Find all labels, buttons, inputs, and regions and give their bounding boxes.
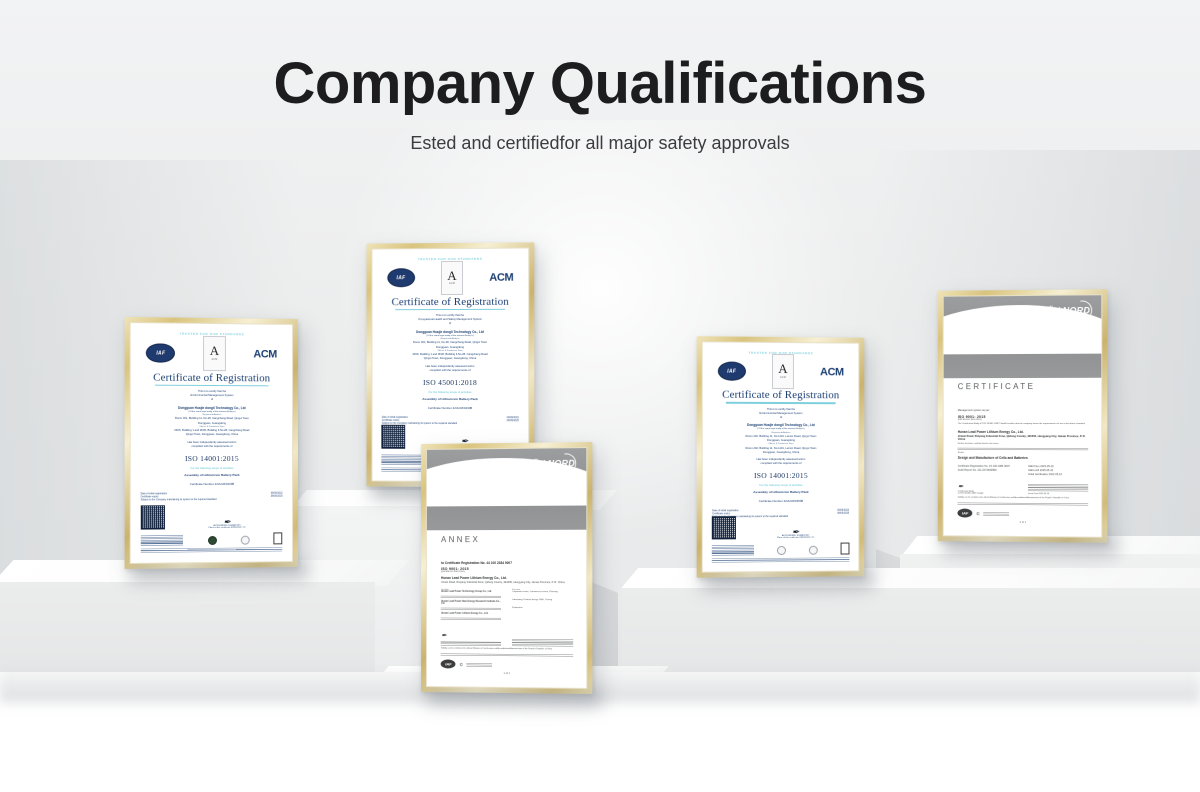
accreditation-seal-icon-1 xyxy=(777,546,786,555)
cert-scope-label: For the following scope of activities xyxy=(712,483,849,487)
certificate-frame-tuv-annex[interactable]: TÜV NORD ANNEX to Certificate Registrati… xyxy=(421,442,592,694)
col-right-1: Corporate centre, Commercial centre, Pla… xyxy=(512,591,573,593)
iaf-logo-icon: IAF xyxy=(718,362,746,381)
accreditation-seal-row xyxy=(140,533,282,546)
cert-standard: ISO 14001:2015 xyxy=(140,454,282,463)
col-left-label: Location xyxy=(441,589,501,591)
accreditation-seal-icon-1 xyxy=(208,536,217,545)
cert-number: Certificate Number 22/ACM/0430B xyxy=(382,406,519,410)
col-right-3: Production xyxy=(512,607,573,609)
cert-intro-3: of xyxy=(140,398,282,403)
cert-address-4: Qingxi Town, Dongguan, Guangdong, China xyxy=(382,357,519,361)
cert-title-rule xyxy=(726,402,836,404)
cert-meta-left-2: Audit Report No. 211-2372692890 xyxy=(958,469,1018,474)
cert-address-label-2: Offices & Production Sites xyxy=(712,443,849,447)
legal-microtext xyxy=(382,454,423,464)
acm-mark-icon: A ACM xyxy=(441,260,462,295)
cert-title-rule xyxy=(395,309,505,311)
cert-address: Jinwei Road, Ruiyang Industrial Zone, Qi… xyxy=(441,581,573,586)
signature-label-2: Place of this certificate 09/06/2022, V1 xyxy=(171,527,283,530)
cert-title: Certificate of Registration xyxy=(382,296,519,309)
col-right-label: Function xyxy=(512,589,573,591)
qr-code-icon xyxy=(712,516,735,540)
cert-address-label: Registered Address xyxy=(712,431,849,435)
accreditation-seal-row xyxy=(712,542,849,555)
cert-number: Certificate Number 22/ACM/0429B xyxy=(140,482,282,487)
acm-wordmark: ACM xyxy=(820,366,844,378)
legal-microtext xyxy=(140,536,183,546)
cert-annex-note: Further locations could be listed in the… xyxy=(958,442,1089,444)
certificate-mat: TRUSTED FOR OUR STANDARDS IAF A ACM ACM … xyxy=(702,341,860,572)
cert-scope: Assembly of Lithium Ion Battery Pack xyxy=(712,490,849,494)
cert-assessed-2: compliant with the requirements of xyxy=(140,445,282,449)
tuv-header-band: TÜV NORD xyxy=(944,295,1102,378)
iaf-logo-icon: IAF xyxy=(387,268,415,287)
acm-wordmark: ACM xyxy=(489,272,513,284)
cert-assessed-2: compliant with the requirements of xyxy=(382,369,519,373)
tuv-swoosh-shape xyxy=(944,304,1102,355)
cert-meta-left-3: Subject to the Company maintaining its s… xyxy=(140,498,216,501)
certificate-mat: TÜV NORD ANNEX to Certificate Registrati… xyxy=(426,447,587,689)
cert-scope: Assembly of Lithium Ion Battery Pack xyxy=(382,397,519,401)
accreditation-seal-icon-2 xyxy=(241,536,250,545)
certificate-frame-tuv-certificate[interactable]: TÜV NORD CERTIFICATE Management system a… xyxy=(938,289,1108,543)
cert-heading: CERTIFICATE xyxy=(958,382,1036,391)
cert-meta: Date of initial registration Certificate… xyxy=(140,492,282,502)
qualifications-hero-scene: Company Qualifications Ested and certifi… xyxy=(0,0,1200,792)
cert-address: Jinwei Road, Ruiyang Industrial Zone, Qi… xyxy=(958,434,1089,440)
certificate-mat: TÜV NORD CERTIFICATE Management system a… xyxy=(943,294,1103,538)
cert-intro-3: of xyxy=(382,322,519,327)
cert-meta-right-3: Initial certification 2022-05-16 xyxy=(1028,473,1089,478)
cert-title: Certificate of Registration xyxy=(140,371,282,384)
cert-address-4: Dongguan, Guangdong, China xyxy=(712,451,849,455)
cert-logo-row: IAF A ACM ACM xyxy=(712,357,849,386)
col-right-2: Laboratory, Product design, R&D, Testing xyxy=(512,599,573,601)
cert-scope: Assembly of Lithium Ion Battery Pack xyxy=(140,473,282,477)
cert-title-rule xyxy=(155,385,269,387)
cert-assessed-2: compliant with the requirements of xyxy=(712,462,849,466)
footer-note: Validity can be verified at the official… xyxy=(441,647,573,651)
certificate-frame-iso14001-b[interactable]: TRUSTED FOR OUR STANDARDS IAF A ACM ACM … xyxy=(697,336,865,578)
cert-address-label-2: Offices & Production Sites xyxy=(382,350,519,354)
cert-heading: ANNEX xyxy=(441,535,480,544)
page-indicator: 1 of 1 xyxy=(441,671,573,675)
signature-label-2: Place of this certificate 09/05/2022, V1 xyxy=(742,536,849,539)
cert-scope-label: For the following scope of activities xyxy=(382,390,519,394)
cert-meta-right-2: 08/05/2025 xyxy=(507,419,519,422)
iaf-logo-icon: IAF xyxy=(441,660,456,669)
qr-code-icon xyxy=(140,506,164,531)
cert-number: Certificate Number 22/ACM/0350B xyxy=(712,499,849,503)
cert-intro-3: of xyxy=(712,416,849,421)
cert-scope-label: For the following scope of activities xyxy=(140,466,282,470)
page-title: Company Qualifications xyxy=(0,52,1200,116)
cert-line-ref: Management system as per xyxy=(958,409,1089,413)
cert-standard: ISO 14001:2015 xyxy=(712,471,849,480)
col-left-1: Hunan Lead Power Technology Group Co., L… xyxy=(441,591,501,593)
cert-intro: The Certification Body of TÜV NORD CERT … xyxy=(958,423,1089,426)
issue-date: Issue Date 2022-05-16 xyxy=(1028,493,1089,495)
cert-address-label: Registered Address xyxy=(140,414,282,418)
acm-mark-icon: A ACM xyxy=(772,354,793,389)
cert-logo-row: IAF A ACM ACM xyxy=(382,263,519,292)
cert-address-label-2: Offices & Production Sites xyxy=(140,426,282,430)
footer-note: Validity can be verified at the official… xyxy=(958,496,1089,500)
cert-address-label: Registered Address xyxy=(382,338,519,342)
cert-standard-sub: (DIN EN ISO 9001:2015) xyxy=(958,419,1089,421)
cert-scope-label: Scope xyxy=(958,451,1089,453)
tuv-swoosh-shape xyxy=(427,457,586,508)
cert-line-ref: to Certificate Registration No. 44 100 2… xyxy=(441,561,573,565)
col-left-2: Hunan Lead Power New Energy Research Ins… xyxy=(441,601,501,605)
iaf-logo-icon: IAF xyxy=(958,509,973,518)
iaf-logo-icon: IAF xyxy=(146,343,175,363)
cert-logo-row: IAF A ACM ACM xyxy=(140,338,282,368)
signer-line-2: at TÜV NORD CERT GmbH xyxy=(958,492,1018,494)
ukas-mark-icon xyxy=(274,533,283,545)
page-indicator: 1 of 1 xyxy=(958,520,1089,524)
cert-company: Hunan Lead Power Lithium Energy Co., Ltd… xyxy=(441,576,573,580)
accreditation-seal-icon-2 xyxy=(808,546,817,555)
cert-standard: ISO 45001:2018 xyxy=(382,378,519,387)
cert-address-4: Qingxi Town, Dongguan, Guangdong, China xyxy=(140,433,282,437)
ukas-mark-icon xyxy=(840,542,849,554)
qr-code-icon xyxy=(382,425,405,448)
legal-microtext xyxy=(712,545,753,555)
acm-wordmark: ACM xyxy=(253,348,277,360)
certificate-frame-iso14001-a[interactable]: TRUSTED FOR OUR STANDARDS IAF A ACM ACM … xyxy=(125,317,298,569)
cert-meta: Date of initial registration Certificate… xyxy=(382,416,519,425)
tuv-header-band: TÜV NORD xyxy=(427,448,586,530)
page-subtitle: Ested and certifiedfor all major safety … xyxy=(0,133,1200,154)
cert-company: Hunan Lead Power Lithium Energy Co., Ltd… xyxy=(958,429,1089,433)
cert-title: Certificate of Registration xyxy=(712,389,849,402)
col-left-3: Hunan Lead Power Lithium Energy Co., Ltd… xyxy=(441,613,501,615)
cert-meta-right-2: 08/05/2025 xyxy=(271,495,283,498)
signature-icon: ✒ xyxy=(441,634,501,640)
cert-standard-sub: (DIN EN ISO 9001:2015) xyxy=(441,571,573,573)
acm-mark-icon: A ACM xyxy=(203,335,225,371)
certificate-mat: TRUSTED FOR OUR STANDARDS IAF A ACM ACM … xyxy=(130,322,293,564)
cert-scope: Design and Manufacture of Cells and Batt… xyxy=(958,455,1089,459)
